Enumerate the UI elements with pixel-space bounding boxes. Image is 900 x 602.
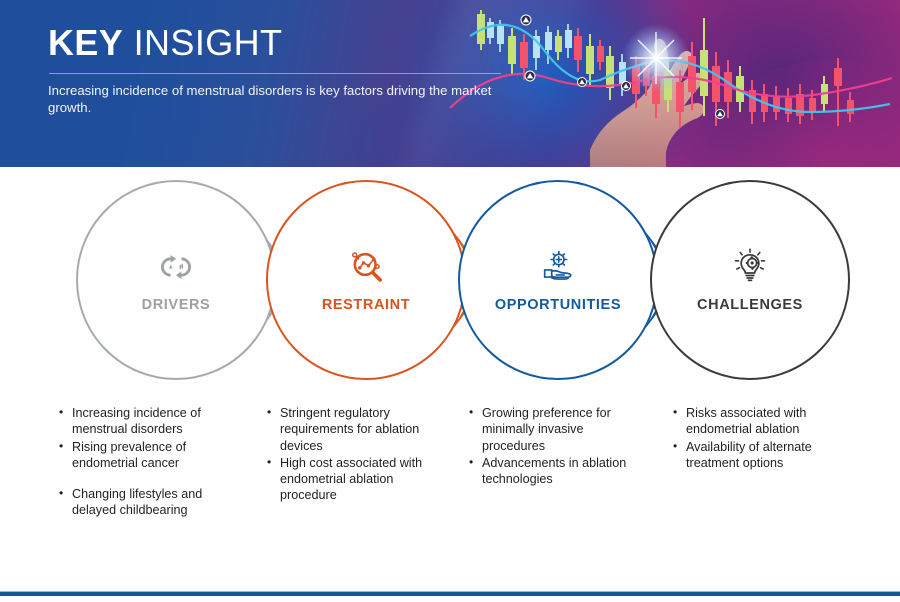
key-insight-infographic: { "header": { "title_bold": "KEY", "titl… <box>0 0 900 602</box>
node-opportunities-label: OPPORTUNITIES <box>495 297 621 313</box>
cycle-arrows-icon <box>156 247 196 287</box>
node-restraint[interactable]: RESTRAINT <box>266 180 466 380</box>
hand-holding-sun-plus-icon <box>538 247 578 287</box>
node-drivers[interactable]: DRIVERS <box>76 180 276 380</box>
column-challenges-points: Risks associated with endometrial ablati… <box>672 405 852 472</box>
header-text-block: KEY INSIGHT Increasing incidence of mens… <box>48 22 518 116</box>
challenges-points-list: Risks associated with endometrial ablati… <box>672 405 852 471</box>
column-opportunities-points: Growing preference for minimally invasiv… <box>468 405 644 488</box>
column-drivers-points: Increasing incidence of menstrual disord… <box>58 405 238 520</box>
page-title: KEY INSIGHT <box>48 22 518 64</box>
list-item: Increasing incidence of menstrual disord… <box>58 405 238 438</box>
header-banner: KEY INSIGHT Increasing incidence of mens… <box>0 0 900 167</box>
column-restraint-points: Stringent regulatory requirements for ab… <box>266 405 438 505</box>
page-title-bold: KEY <box>48 22 123 63</box>
list-item: Availability of alternate treatment opti… <box>672 439 852 472</box>
restraint-points-list: Stringent regulatory requirements for ab… <box>266 405 438 504</box>
footer-rule <box>0 592 900 596</box>
node-drivers-label: DRIVERS <box>142 297 211 313</box>
list-item: Rising prevalence of endometrial cancer <box>58 439 238 472</box>
list-item: High cost associated with endometrial ab… <box>266 455 438 504</box>
list-item: Stringent regulatory requirements for ab… <box>266 405 438 454</box>
node-challenges[interactable]: CHALLENGES <box>650 180 850 380</box>
opportunities-points-list: Growing preference for minimally invasiv… <box>468 405 644 487</box>
page-subtitle: Increasing incidence of menstrual disord… <box>48 82 500 116</box>
lightbulb-gear-icon <box>730 247 770 287</box>
bullet-columns: Increasing incidence of menstrual disord… <box>0 405 900 565</box>
page-title-light: INSIGHT <box>123 22 282 63</box>
node-opportunities[interactable]: OPPORTUNITIES <box>458 180 658 380</box>
title-divider <box>49 73 501 74</box>
node-challenges-label: CHALLENGES <box>697 297 803 313</box>
list-item: Growing preference for minimally invasiv… <box>468 405 644 454</box>
list-item: Changing lifestyles and delayed childbea… <box>58 486 238 519</box>
drivers-points-list: Increasing incidence of menstrual disord… <box>58 405 238 519</box>
list-item: Risks associated with endometrial ablati… <box>672 405 852 438</box>
list-item: Advancements in ablation technologies <box>468 455 644 488</box>
magnifier-chart-icon <box>346 247 386 287</box>
node-restraint-label: RESTRAINT <box>322 297 410 313</box>
